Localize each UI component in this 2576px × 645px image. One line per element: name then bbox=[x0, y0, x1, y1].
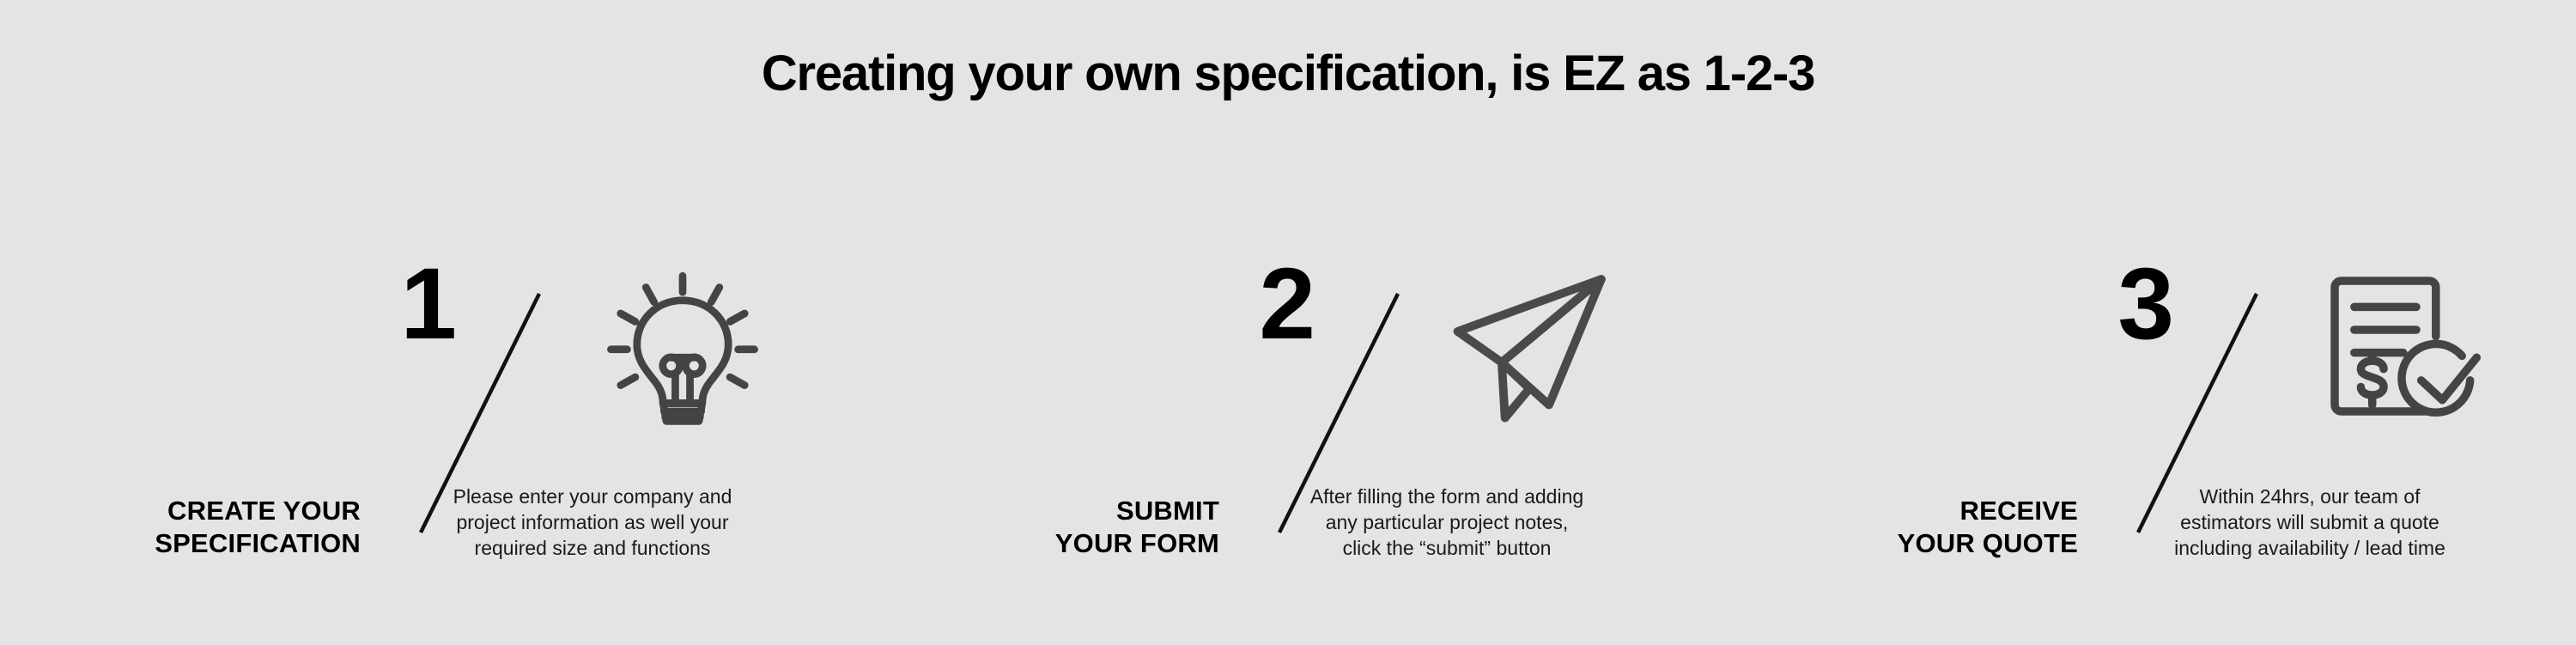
lightbulb-icon bbox=[601, 265, 764, 428]
step-title-line1: RECEIVE bbox=[1960, 496, 2079, 526]
step-title-1: CREATE YOUR SPECIFICATION bbox=[77, 495, 361, 560]
step-description-3: Within 24hrs, our team of estimators wil… bbox=[2168, 484, 2451, 562]
step-item-3: 3 bbox=[1717, 258, 2576, 584]
step-number-2: 2 bbox=[1030, 258, 1314, 351]
infographic-page: Creating your own specification, is EZ a… bbox=[0, 0, 2576, 645]
paper-plane-icon bbox=[1451, 265, 1614, 428]
page-title: Creating your own specification, is EZ a… bbox=[0, 46, 2576, 101]
steps-row: 1 bbox=[0, 258, 2576, 584]
step-title-line1: CREATE YOUR bbox=[167, 496, 361, 526]
step-item-1: 1 bbox=[0, 258, 859, 584]
step-title-line2: SPECIFICATION bbox=[155, 528, 361, 558]
step-title-line1: SUBMIT bbox=[1116, 496, 1219, 526]
step-item-2: 2 SUBMIT YOUR FORM After filling the fo bbox=[859, 258, 1717, 584]
step-title-line2: YOUR QUOTE bbox=[1898, 528, 2078, 558]
step-description-1: Please enter your company and project in… bbox=[451, 484, 734, 562]
step-title-3: RECEIVE YOUR QUOTE bbox=[1795, 495, 2078, 560]
step-description-2: After filling the form and adding any pa… bbox=[1305, 484, 1589, 562]
step-title-line2: YOUR FORM bbox=[1055, 528, 1219, 558]
quote-document-check-icon bbox=[2318, 265, 2482, 428]
step-number-1: 1 bbox=[172, 258, 455, 351]
step-number-3: 3 bbox=[1889, 258, 2172, 351]
step-title-2: SUBMIT YOUR FORM bbox=[936, 495, 1219, 560]
